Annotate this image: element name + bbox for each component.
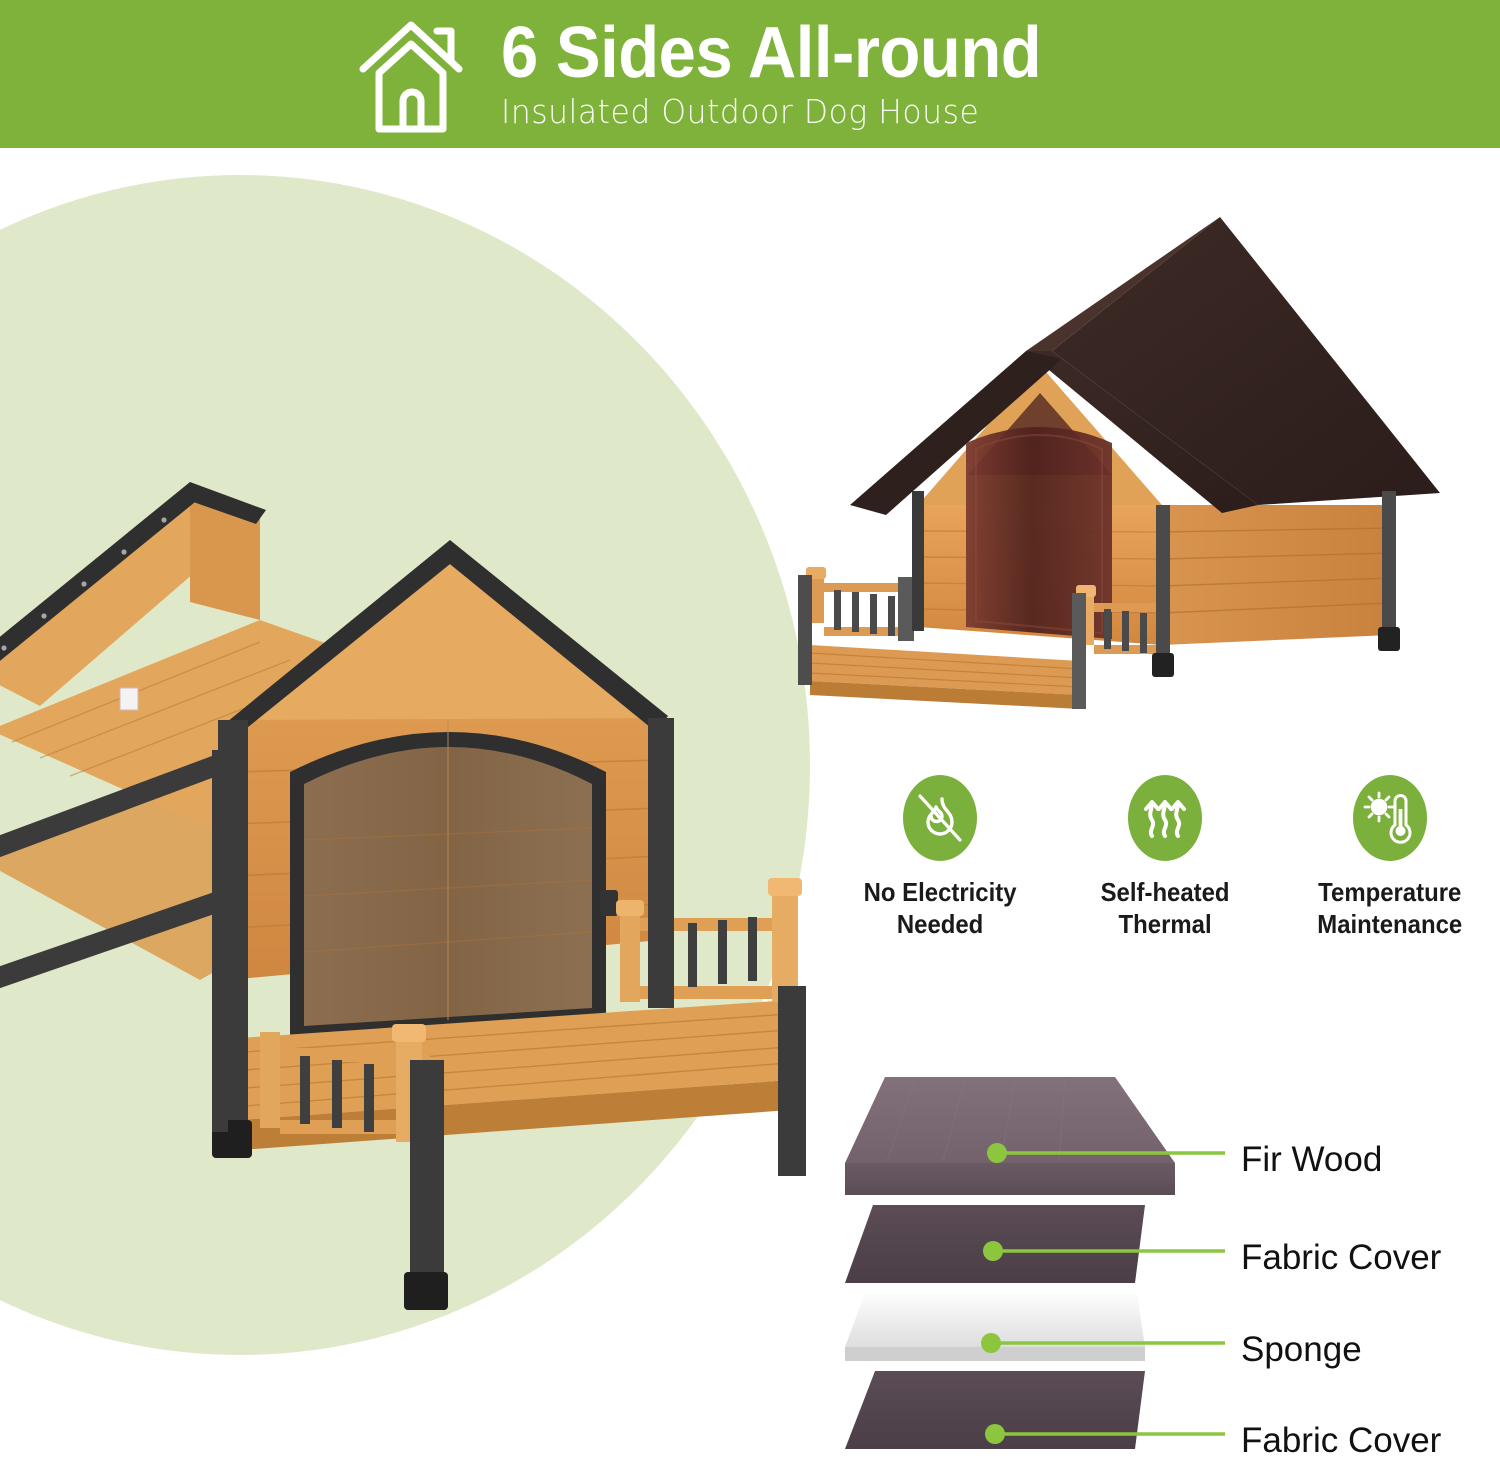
feature-badge <box>1353 775 1427 861</box>
thermometer-sun-icon <box>1361 789 1419 847</box>
layer-label-fabric-top: Fabric Cover <box>1241 1240 1441 1275</box>
layer-label-list: Fir Wood Fabric Cover Sponge Fabric Cove… <box>845 1055 1500 1455</box>
feature-badge <box>903 775 977 861</box>
banner-text: 6 Sides All-round Insulated Outdoor Dog … <box>501 18 1082 131</box>
layer-diagram: Fir Wood Fabric Cover Sponge Fabric Cove… <box>845 1055 1500 1455</box>
layer-label-fir-wood: Fir Wood <box>1241 1142 1382 1177</box>
feature-self-heated: Self-heated Thermal <box>1070 775 1260 940</box>
feature-temperature: Temperature Maintenance <box>1295 775 1485 940</box>
feature-no-electricity: No Electricity Needed <box>845 775 1035 940</box>
feature-list: No Electricity Needed Self-heated Therma… <box>845 775 1485 955</box>
layer-label-fabric-bottom: Fabric Cover <box>1241 1423 1441 1458</box>
banner-subtitle: Insulated Outdoor Dog House <box>501 94 979 130</box>
house-icon <box>359 17 479 135</box>
banner-title: 6 Sides All-round <box>501 18 1041 89</box>
feature-badge <box>1128 775 1202 861</box>
header-banner: 6 Sides All-round Insulated Outdoor Dog … <box>0 0 1500 148</box>
layer-label-sponge: Sponge <box>1241 1332 1362 1367</box>
heat-arrows-icon <box>1137 790 1193 846</box>
infographic-root: 6 Sides All-round Insulated Outdoor Dog … <box>0 0 1500 1464</box>
feature-label: Self-heated Thermal <box>1101 877 1230 940</box>
feature-label: No Electricity Needed <box>864 877 1017 940</box>
feature-label: Temperature Maintenance <box>1318 877 1463 940</box>
dog-house-open-roof-image <box>0 420 860 1330</box>
dog-house-assembled-image <box>790 175 1480 715</box>
banner-content: 6 Sides All-round Insulated Outdoor Dog … <box>359 13 1082 135</box>
no-flame-icon <box>912 790 968 846</box>
